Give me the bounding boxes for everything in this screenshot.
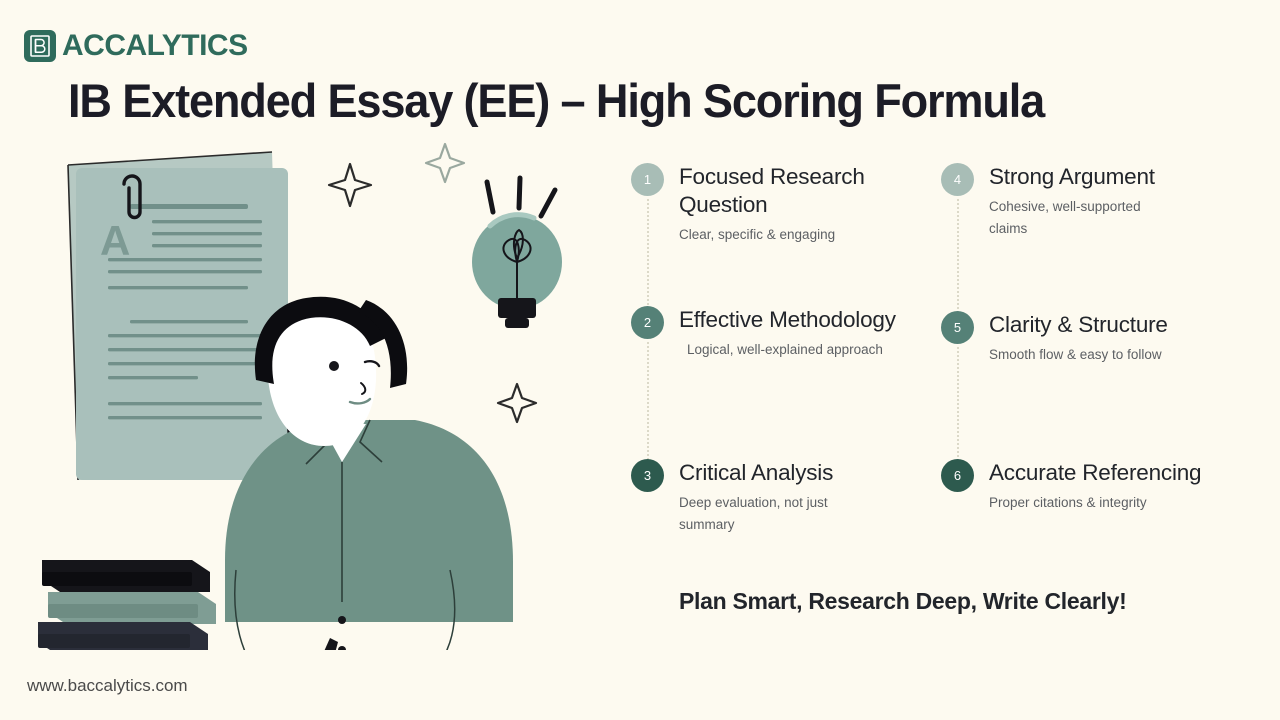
step-title-3: Critical Analysis — [679, 459, 925, 487]
logo-wordmark: ACCALYTICS — [62, 29, 248, 63]
pen-icon — [318, 638, 338, 650]
step-title-5: Clarity & Structure — [989, 311, 1235, 339]
logo-mark-icon — [24, 30, 56, 62]
brand-logo: ACCALYTICS — [24, 29, 248, 63]
step-badge-3: 3 — [631, 459, 664, 492]
logo-b-glyph-icon — [30, 35, 50, 57]
illustration-svg: A — [20, 140, 610, 650]
step-connector-5 — [957, 347, 959, 465]
student-figure-icon — [225, 420, 513, 650]
step-subtitle-5: Smooth flow & easy to follow — [989, 344, 1235, 366]
eye-icon — [329, 361, 339, 371]
writing-hand-icon — [221, 638, 338, 650]
step-badge-2: 2 — [631, 306, 664, 339]
step-item-2[interactable]: 2 Effective Methodology Logical, well-ex… — [625, 306, 925, 361]
step-connector-1 — [647, 199, 649, 317]
step-subtitle-6: Proper citations & integrity — [989, 492, 1235, 514]
step-title-2: Effective Methodology — [679, 306, 925, 334]
step-subtitle-2: Logical, well-explained approach — [679, 339, 925, 361]
step-item-6[interactable]: 6 Accurate Referencing Proper citations … — [935, 459, 1235, 514]
footer-url[interactable]: www.baccalytics.com — [27, 676, 188, 696]
step-badge-5: 5 — [941, 311, 974, 344]
infographic-canvas: ACCALYTICS IB Extended Essay (EE) – High… — [0, 0, 1280, 720]
grade-letter: A — [100, 217, 130, 264]
step-connector-4 — [957, 199, 959, 317]
step-subtitle-3: Deep evaluation, not just summary — [679, 492, 859, 536]
step-badge-1: 1 — [631, 163, 664, 196]
tagline: Plan Smart, Research Deep, Write Clearly… — [679, 588, 1126, 615]
page-title: IB Extended Essay (EE) – High Scoring Fo… — [68, 73, 1044, 128]
paper-document-icon: A — [76, 168, 288, 480]
step-item-1[interactable]: 1 Focused Research Question Clear, speci… — [625, 163, 925, 246]
student-writing-essay-illustration: A — [20, 140, 610, 650]
step-title-4: Strong Argument — [989, 163, 1235, 191]
step-badge-6: 6 — [941, 459, 974, 492]
step-badge-4: 4 — [941, 163, 974, 196]
step-item-3[interactable]: 3 Critical Analysis Deep evaluation, not… — [625, 459, 925, 536]
step-connector-2 — [647, 342, 649, 460]
step-title-6: Accurate Referencing — [989, 459, 1235, 487]
lightbulb-icon — [472, 178, 562, 328]
step-item-4[interactable]: 4 Strong Argument Cohesive, well-support… — [935, 163, 1235, 240]
step-subtitle-4: Cohesive, well-supported claims — [989, 196, 1179, 240]
step-item-5[interactable]: 5 Clarity & Structure Smooth flow & easy… — [935, 311, 1235, 366]
step-title-1: Focused Research Question — [679, 163, 925, 219]
book-stack-icon — [38, 560, 216, 650]
step-subtitle-1: Clear, specific & engaging — [679, 224, 925, 246]
